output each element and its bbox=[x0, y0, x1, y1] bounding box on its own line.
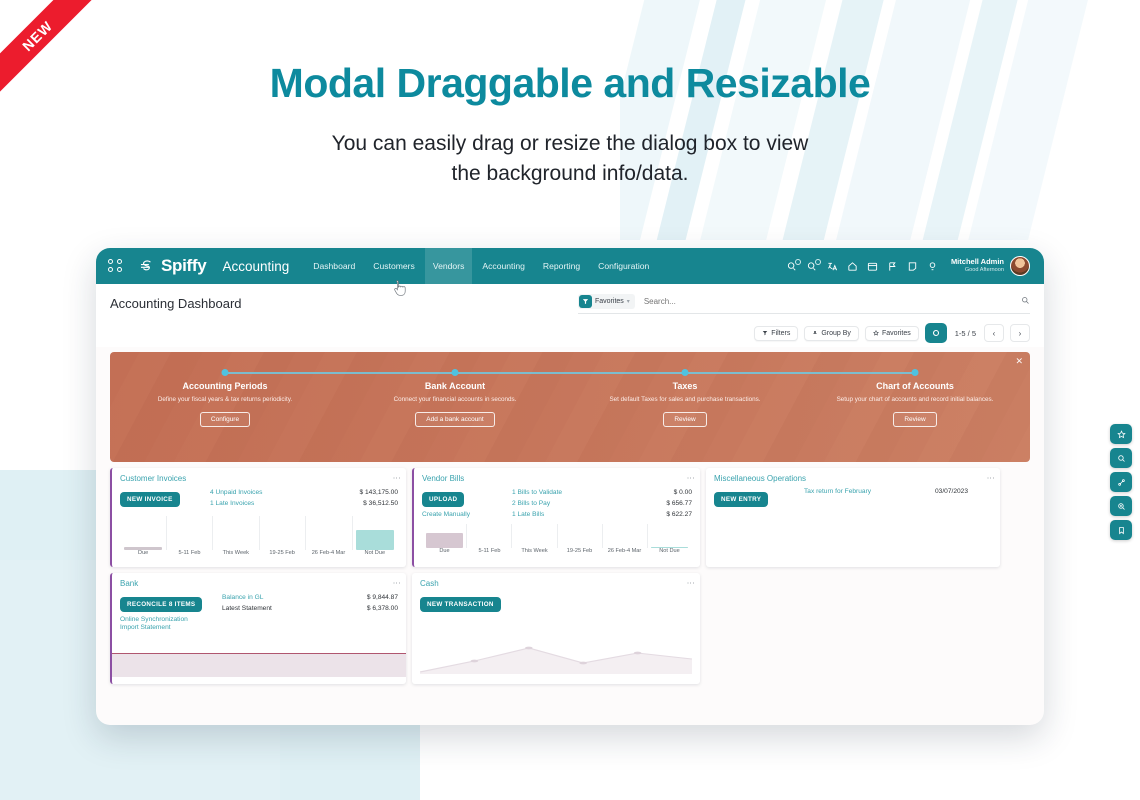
step-button-review-taxes[interactable]: Review bbox=[663, 412, 706, 427]
user-avatar[interactable] bbox=[1010, 256, 1030, 276]
search-icon[interactable] bbox=[1021, 292, 1030, 310]
axis-tick: 5-11 Feb bbox=[166, 550, 212, 556]
step-title: Bank Account bbox=[340, 381, 570, 391]
translate-icon[interactable] bbox=[827, 261, 838, 272]
new-transaction-button[interactable]: NEW TRANSACTION bbox=[420, 597, 501, 612]
table-row: 1 Late Bills $ 622.27 bbox=[512, 510, 692, 521]
axis-tick: Not Due bbox=[352, 550, 398, 556]
table-row: 2 Bills to Pay $ 656.77 bbox=[512, 499, 692, 510]
row-value: 03/07/2023 bbox=[935, 488, 968, 507]
upload-button[interactable]: UPLOAD bbox=[422, 492, 464, 507]
row-value: $ 6,378.00 bbox=[367, 604, 398, 615]
row-value: $ 143,175.00 bbox=[359, 488, 398, 499]
star-icon[interactable] bbox=[1110, 424, 1132, 444]
kebab-menu-icon[interactable]: ⋮ bbox=[687, 579, 692, 587]
new-ribbon: NEW bbox=[0, 0, 96, 96]
nav-link-accounting[interactable]: Accounting bbox=[474, 248, 533, 284]
search-icon[interactable] bbox=[1110, 448, 1132, 468]
app-window: Spiffy Accounting Dashboard Customers Ve… bbox=[96, 248, 1044, 725]
onboarding-step-taxes[interactable]: Taxes Set default Taxes for sales and pu… bbox=[570, 369, 800, 462]
nav-link-reporting[interactable]: Reporting bbox=[535, 248, 588, 284]
arrow-left-icon[interactable]: ‹ bbox=[984, 324, 1004, 342]
card-misc-operations: Miscellaneous Operations ⋮ NEW ENTRY Tax… bbox=[706, 468, 1000, 567]
card-title: Customer Invoices bbox=[120, 474, 186, 483]
axis-tick: Due bbox=[422, 548, 467, 554]
bulb-icon[interactable] bbox=[927, 261, 938, 272]
nav-links: Dashboard Customers Vendors Accounting R… bbox=[305, 248, 657, 284]
onboarding-step-chart-of-accounts[interactable]: Chart of Accounts Setup your chart of ac… bbox=[800, 369, 1030, 462]
onboarding-step-accounting-periods[interactable]: Accounting Periods Define your fiscal ye… bbox=[110, 369, 340, 462]
step-desc: Define your fiscal years & tax returns p… bbox=[110, 395, 340, 405]
card-cash: Cash ⋮ NEW TRANSACTION bbox=[412, 573, 700, 684]
hero-subtitle-line2: the background info/data. bbox=[451, 162, 688, 185]
user-menu[interactable]: Mitchell Admin Good Afternoon bbox=[951, 256, 1030, 276]
onboarding-step-bank-account[interactable]: Bank Account Connect your financial acco… bbox=[340, 369, 570, 462]
row-label: Latest Statement bbox=[222, 604, 272, 615]
new-invoice-button[interactable]: NEW INVOICE bbox=[120, 492, 180, 507]
new-ribbon-label: NEW bbox=[0, 0, 96, 96]
view-controls: Filters Group By Favorites 1-5 / 5 ‹ › bbox=[110, 323, 1030, 343]
note-icon[interactable] bbox=[907, 261, 918, 272]
step-button-review-coa[interactable]: Review bbox=[893, 412, 936, 427]
bank-chart bbox=[112, 653, 406, 677]
bookmark-icon[interactable] bbox=[1110, 520, 1132, 540]
filters-button-label: Filters bbox=[771, 330, 790, 337]
onboarding-banner: ✕ Accounting Periods Define your fiscal … bbox=[110, 352, 1030, 462]
hero-subtitle: You can easily drag or resize the dialog… bbox=[0, 129, 1140, 190]
hero-subtitle-line1: You can easily drag or resize the dialog… bbox=[332, 132, 809, 155]
expand-diagonal-icon[interactable] bbox=[1110, 472, 1132, 492]
kebab-menu-icon[interactable]: ⋮ bbox=[393, 579, 398, 587]
filters-button[interactable]: Filters bbox=[754, 326, 798, 341]
row-value: $ 0.00 bbox=[674, 488, 692, 499]
axis-tick: 19-25 Feb bbox=[259, 550, 305, 556]
favorites-facet-label: Favorites bbox=[595, 298, 624, 305]
zoom-search-icon[interactable] bbox=[1110, 496, 1132, 516]
card-title: Bank bbox=[120, 579, 138, 588]
user-greeting: Good Afternoon bbox=[951, 267, 1004, 273]
brand[interactable]: Spiffy bbox=[137, 256, 206, 276]
kanban-view-icon[interactable] bbox=[925, 323, 947, 343]
new-entry-button[interactable]: NEW ENTRY bbox=[714, 492, 768, 507]
messages-icon[interactable] bbox=[787, 261, 798, 272]
row-label[interactable]: Balance in GL bbox=[222, 593, 263, 604]
spiffy-logo-icon bbox=[137, 257, 156, 276]
nav-link-dashboard[interactable]: Dashboard bbox=[305, 248, 363, 284]
home-icon[interactable] bbox=[847, 261, 858, 272]
card-title: Vendor Bills bbox=[422, 474, 464, 483]
row-value: $ 656.77 bbox=[666, 499, 692, 510]
hero-section: Modal Draggable and Resizable You can ea… bbox=[0, 0, 1140, 190]
reconcile-button[interactable]: RECONCILE 8 ITEMS bbox=[120, 597, 202, 612]
group-by-button-label: Group By bbox=[821, 330, 851, 337]
activities-icon[interactable] bbox=[807, 261, 818, 272]
current-app-name: Accounting bbox=[222, 259, 289, 274]
create-manually-link[interactable]: Create Manually bbox=[422, 511, 506, 518]
step-title: Taxes bbox=[570, 381, 800, 391]
pager-label: 1-5 / 5 bbox=[955, 329, 976, 338]
axis-tick: 5-11 Feb bbox=[467, 548, 512, 554]
search-bar[interactable]: Favorites ▾ bbox=[578, 292, 1030, 314]
card-vendor-bills: Vendor Bills ⋮ UPLOAD Create Manually 1 … bbox=[412, 468, 700, 567]
table-row: Latest Statement $ 6,378.00 bbox=[222, 604, 398, 615]
axis-tick: 26 Feb-4 Mar bbox=[305, 550, 351, 556]
table-row: 4 Unpaid Invoices $ 143,175.00 bbox=[210, 488, 398, 499]
calendar-icon[interactable] bbox=[867, 261, 878, 272]
kebab-menu-icon[interactable]: ⋮ bbox=[393, 474, 398, 482]
axis-tick: Due bbox=[120, 550, 166, 556]
favorites-button[interactable]: Favorites bbox=[865, 326, 919, 341]
customer-invoices-chart-axis: Due 5-11 Feb This Week 19-25 Feb 26 Feb-… bbox=[120, 550, 398, 556]
step-title: Accounting Periods bbox=[110, 381, 340, 391]
row-label[interactable]: 2 Bills to Pay bbox=[512, 499, 550, 510]
row-label[interactable]: 1 Bills to Validate bbox=[512, 488, 562, 499]
table-row: Balance in GL $ 9,844.87 bbox=[222, 593, 398, 604]
control-panel: Accounting Dashboard Favorites ▾ bbox=[96, 284, 1044, 347]
row-label[interactable]: 1 Late Bills bbox=[512, 510, 544, 521]
apps-grid-icon[interactable] bbox=[108, 259, 123, 274]
breadcrumb-title: Accounting Dashboard bbox=[110, 296, 242, 311]
axis-tick: This Week bbox=[512, 548, 557, 554]
row-label[interactable]: 4 Unpaid Invoices bbox=[210, 488, 262, 499]
axis-tick: 26 Feb-4 Mar bbox=[602, 548, 647, 554]
kebab-menu-icon[interactable]: ⋮ bbox=[687, 474, 692, 482]
customer-invoices-chart bbox=[120, 516, 398, 550]
group-by-button[interactable]: Group By bbox=[804, 326, 859, 341]
top-navbar: Spiffy Accounting Dashboard Customers Ve… bbox=[96, 248, 1044, 284]
favorites-facet-caret[interactable]: ▾ bbox=[627, 298, 630, 305]
row-value: $ 36,512.50 bbox=[363, 499, 398, 510]
table-row: 1 Bills to Validate $ 0.00 bbox=[512, 488, 692, 499]
arrow-right-icon[interactable]: › bbox=[1010, 324, 1030, 342]
axis-tick: This Week bbox=[213, 550, 259, 556]
axis-tick: Not Due bbox=[647, 548, 692, 554]
card-customer-invoices: Customer Invoices ⋮ NEW INVOICE 4 Unpaid… bbox=[110, 468, 406, 567]
step-button-configure[interactable]: Configure bbox=[200, 412, 250, 427]
page-title: Modal Draggable and Resizable bbox=[0, 60, 1140, 107]
axis-tick: 19-25 Feb bbox=[557, 548, 602, 554]
close-icon[interactable]: ✕ bbox=[1015, 356, 1023, 367]
user-name: Mitchell Admin bbox=[951, 258, 1004, 267]
search-input[interactable] bbox=[644, 297, 1021, 306]
brand-name: Spiffy bbox=[161, 256, 206, 276]
card-title: Miscellaneous Operations bbox=[714, 474, 806, 483]
row-value: $ 9,844.87 bbox=[367, 593, 398, 604]
flag-icon[interactable] bbox=[887, 261, 898, 272]
table-row: 1 Late Invoices $ 36,512.50 bbox=[210, 499, 398, 510]
row-label[interactable]: Tax return for February bbox=[804, 488, 871, 507]
row-label[interactable]: 1 Late Invoices bbox=[210, 499, 254, 510]
vendor-bills-chart bbox=[422, 524, 692, 548]
nav-link-configuration[interactable]: Configuration bbox=[590, 248, 657, 284]
favorites-button-label: Favorites bbox=[882, 330, 911, 337]
kebab-menu-icon[interactable]: ⋮ bbox=[987, 474, 992, 482]
row-value: $ 622.27 bbox=[666, 510, 692, 521]
step-desc: Setup your chart of accounts and record … bbox=[800, 395, 1030, 405]
navbar-icon-tray: Mitchell Admin Good Afternoon bbox=[787, 256, 1038, 276]
filter-funnel-icon bbox=[579, 295, 592, 308]
step-button-add-bank-account[interactable]: Add a bank account bbox=[415, 412, 494, 427]
nav-link-vendors[interactable]: Vendors bbox=[425, 248, 473, 284]
side-action-buttons bbox=[1110, 424, 1132, 540]
vendor-bills-chart-axis: Due 5-11 Feb This Week 19-25 Feb 26 Feb-… bbox=[422, 548, 692, 554]
card-title: Cash bbox=[420, 579, 439, 588]
mouse-cursor bbox=[392, 278, 408, 298]
card-bank: Bank ⋮ RECONCILE 8 ITEMS Online Synchron… bbox=[110, 573, 406, 684]
cash-chart bbox=[420, 632, 692, 674]
dashboard-cards: Customer Invoices ⋮ NEW INVOICE 4 Unpaid… bbox=[96, 462, 1044, 684]
online-synchronization-link[interactable]: Online Synchronization bbox=[120, 616, 216, 623]
import-statement-link[interactable]: Import Statement bbox=[120, 624, 216, 631]
step-desc: Connect your financial accounts in secon… bbox=[340, 395, 570, 405]
step-title: Chart of Accounts bbox=[800, 381, 1030, 391]
step-desc: Set default Taxes for sales and purchase… bbox=[570, 395, 800, 405]
favorites-facet-chip[interactable]: Favorites ▾ bbox=[578, 294, 635, 309]
